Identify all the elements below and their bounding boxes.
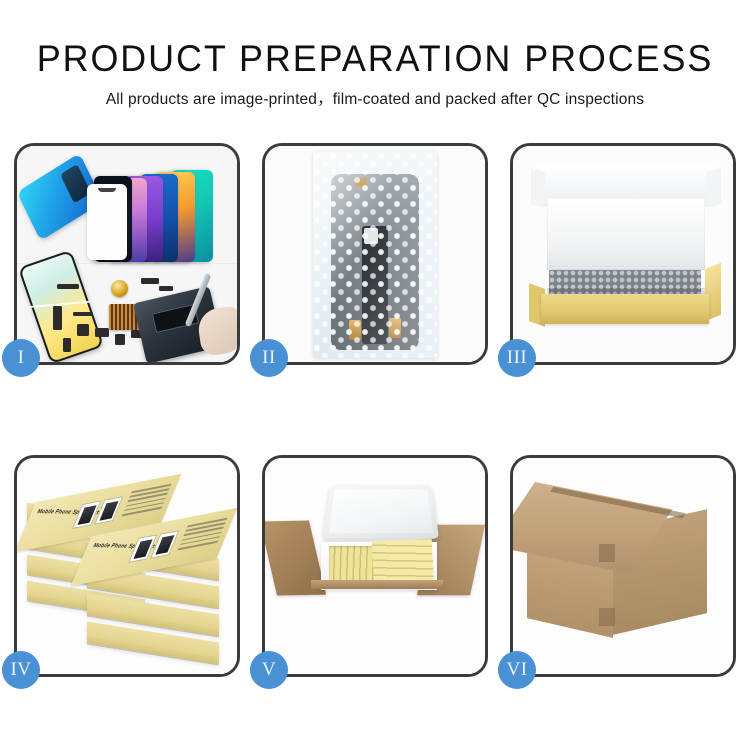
page-header: PRODUCT PREPARATION PROCESS All products… — [0, 0, 750, 111]
panel-2-step-badge: II — [250, 339, 288, 377]
foam-lid-image — [323, 485, 439, 539]
panel-6-image — [513, 458, 733, 674]
panel-2-image — [265, 146, 485, 362]
panel-3-step-badge: III — [498, 339, 536, 377]
page-title: PRODUCT PREPARATION PROCESS — [11, 38, 739, 80]
panel-1-image — [17, 146, 237, 362]
small-part-image — [77, 324, 89, 336]
carton-front-panel-image — [313, 584, 441, 640]
process-panel-1: I — [14, 143, 240, 365]
process-panel-2: II — [262, 143, 488, 365]
panel-5-step-badge: V — [250, 651, 288, 689]
process-panel-grid: I II III — [14, 143, 737, 677]
small-part-image — [159, 286, 173, 291]
front-glass-panel-image — [87, 184, 127, 260]
process-panel-5: V — [262, 455, 488, 677]
panel-5-image — [265, 458, 485, 674]
speaker-coil-part-image — [111, 280, 128, 297]
carton-tape-patch-image — [599, 608, 615, 626]
panel-6-step-badge: VI — [498, 651, 536, 689]
box-front-panel-image — [541, 294, 709, 324]
box-stack-image: Mobile Phone Spare Parts Mobile Phone Sp… — [25, 472, 229, 660]
process-panel-4: Mobile Phone Spare Parts Mobile Phone Sp… — [14, 455, 240, 677]
small-part-image — [115, 334, 125, 345]
box-label-feature-lines — [175, 518, 227, 556]
page-subtitle: All products are image-printed，film-coat… — [0, 89, 750, 111]
process-panel-6: VI — [510, 455, 736, 677]
plastic-sheen — [313, 152, 437, 358]
small-part-image — [73, 312, 93, 316]
bubble-wrap-bag-image — [313, 152, 437, 358]
box-label-feature-lines — [119, 484, 171, 522]
carton-tape-patch-image — [599, 544, 615, 562]
small-part-image — [53, 306, 62, 330]
process-panel-3: III — [510, 143, 736, 365]
panel-3-image — [513, 146, 733, 362]
panel-4-step-badge: IV — [2, 651, 40, 689]
panel-1-step-badge: I — [2, 339, 40, 377]
small-part-image — [63, 338, 71, 352]
small-part-image — [141, 278, 159, 284]
foam-sheet-image — [547, 198, 705, 270]
panel-4-image: Mobile Phone Spare Parts Mobile Phone Sp… — [17, 458, 237, 674]
small-part-image — [57, 284, 79, 289]
small-part-image — [95, 328, 109, 337]
